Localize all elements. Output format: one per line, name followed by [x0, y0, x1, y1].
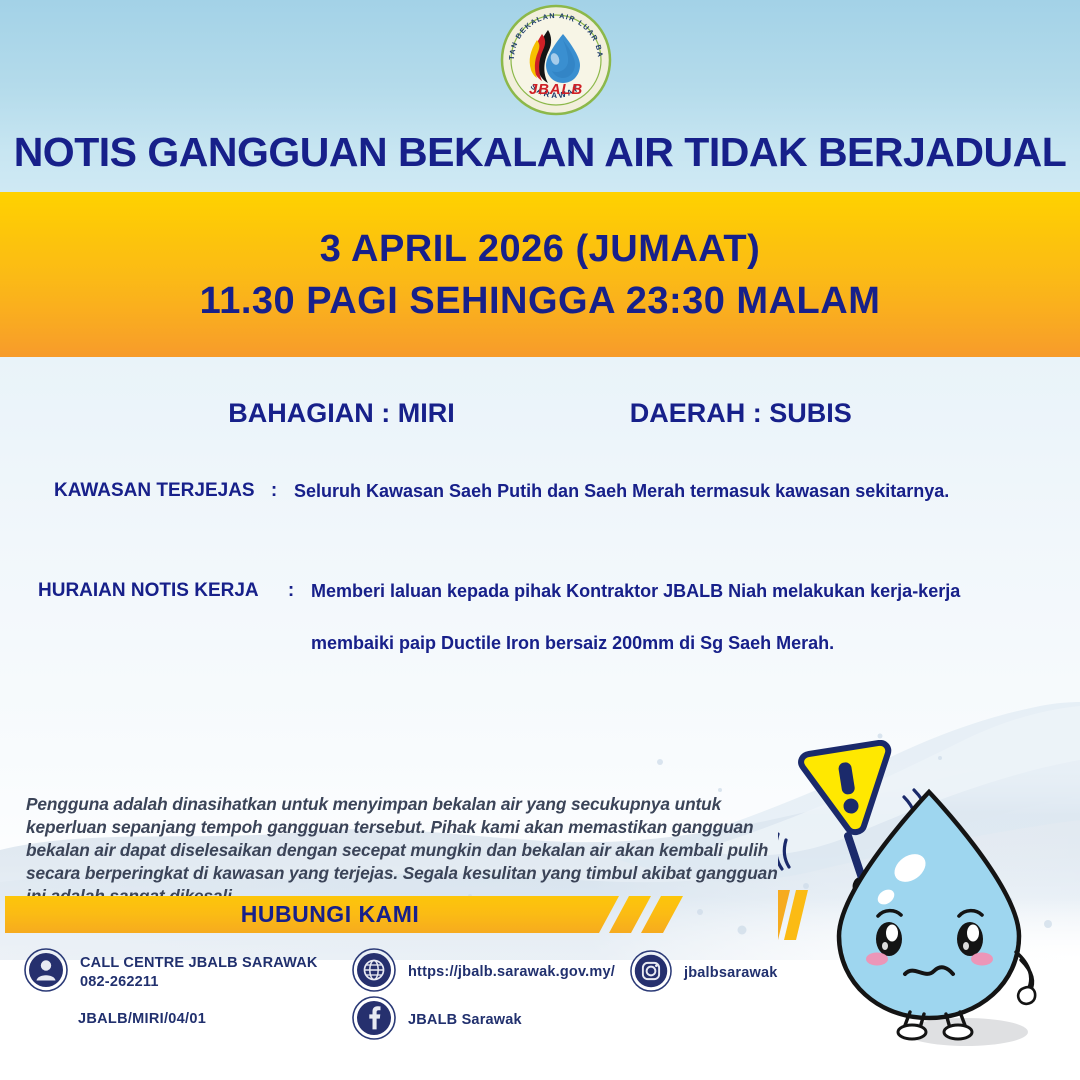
jbalb-sarawak-logo: JABATAN BEKALAN AIR LUAR BANDAR SARAWAK … [500, 4, 612, 116]
affected-area-row: KAWASAN TERJEJAS : Seluruh Kawasan Saeh … [54, 478, 949, 504]
notice-time: 11.30 PAGI SEHINGGA 23:30 MALAM [200, 275, 881, 327]
affected-area-value: Seluruh Kawasan Saeh Putih dan Saeh Mera… [294, 478, 949, 504]
contact-instagram[interactable]: jbalbsarawak [630, 950, 777, 997]
call-centre-name: CALL CENTRE JBALB SARAWAK [80, 954, 318, 973]
division-district-row: BAHAGIAN : MIRI DAERAH : SUBIS [0, 398, 1080, 429]
svg-text:JBALB: JBALB [529, 81, 583, 98]
work-description-row: HURAIAN NOTIS KERJA : Memberi laluan kep… [38, 578, 960, 656]
work-description-value: Memberi laluan kepada pihak Kontraktor J… [311, 578, 960, 656]
work-description-line-1: Memberi laluan kepada pihak Kontraktor J… [311, 581, 960, 601]
globe-icon [352, 948, 396, 997]
instagram-handle[interactable]: jbalbsarawak [684, 964, 777, 983]
affected-area-label: KAWASAN TERJEJAS [54, 478, 254, 504]
work-description-colon: : [271, 578, 311, 656]
date-time-banner: 3 APRIL 2026 (JUMAAT) 11.30 PAGI SEHINGG… [0, 192, 1080, 357]
facebook-icon [352, 996, 396, 1045]
work-description-label: HURAIAN NOTIS KERJA [38, 578, 271, 656]
notice-date: 3 APRIL 2026 (JUMAAT) [320, 223, 761, 275]
contact-heading-label: HUBUNGI KAMI [5, 896, 655, 933]
contact-facebook[interactable]: JBALB Sarawak [352, 996, 522, 1045]
bahagian-label: BAHAGIAN : MIRI [228, 398, 454, 429]
work-description-line-2: membaiki paip Ductile Iron bersaiz 200mm… [311, 630, 960, 656]
call-centre-text: CALL CENTRE JBALB SARAWAK 082-262211 [80, 954, 318, 992]
contact-call-centre[interactable]: CALL CENTRE JBALB SARAWAK 082-262211 [24, 948, 318, 997]
person-icon [24, 948, 68, 997]
call-centre-number: 082-262211 [80, 973, 318, 992]
reference-number: JBALB/MIRI/04/01 [78, 1011, 206, 1027]
website-url[interactable]: https://jbalb.sarawak.gov.my/ [408, 963, 615, 982]
water-disruption-notice-poster: JABATAN BEKALAN AIR LUAR BANDAR SARAWAK … [0, 0, 1080, 1080]
contact-website[interactable]: https://jbalb.sarawak.gov.my/ [352, 948, 615, 997]
instagram-icon [630, 950, 672, 997]
advisory-paragraph: Pengguna adalah dinasihatkan untuk menyi… [26, 793, 786, 908]
affected-area-colon: : [254, 478, 294, 504]
page-title: NOTIS GANGGUAN BEKALAN AIR TIDAK BERJADU… [0, 127, 1080, 177]
facebook-page-name[interactable]: JBALB Sarawak [408, 1011, 522, 1030]
daerah-label: DAERAH : SUBIS [630, 398, 852, 429]
